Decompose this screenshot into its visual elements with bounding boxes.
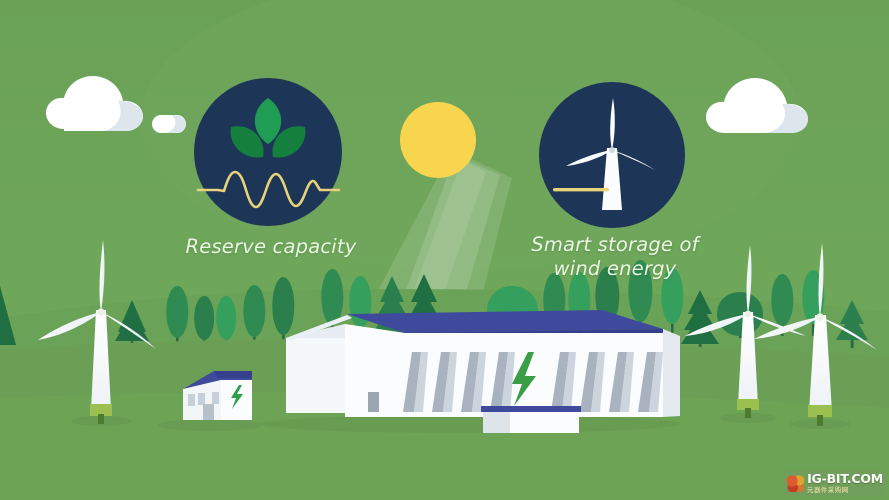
warehouse-shadow	[260, 415, 680, 433]
smart-storage-badge	[539, 82, 685, 228]
watermark-subtitle: 元器件采购网	[807, 487, 881, 493]
watermark: IG-BIT.COM 元器件采购网	[784, 470, 886, 496]
battery-storage-warehouse	[286, 310, 680, 433]
house-shadow	[158, 419, 262, 431]
reserve-capacity-badge	[194, 78, 342, 226]
watermark-text: IG-BIT.COM 元器件采购网	[807, 473, 883, 493]
sun-icon	[400, 102, 476, 178]
landscape-layer	[0, 0, 889, 500]
substation-block	[481, 406, 581, 433]
cloud-left-small	[152, 115, 186, 133]
watermark-domain: IG-BIT.COM	[807, 473, 883, 486]
illustration-scene: Reserve capacity Smart storage of wind e…	[0, 0, 889, 500]
ig-bit-logo-icon	[787, 475, 804, 492]
